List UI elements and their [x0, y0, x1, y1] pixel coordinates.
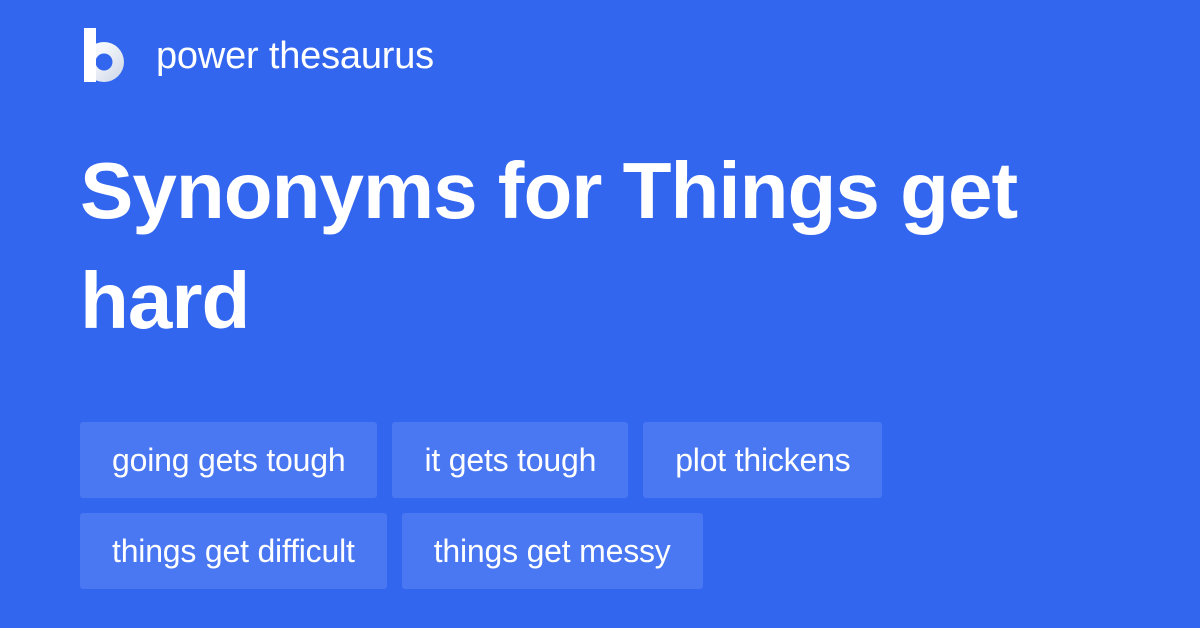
synonym-chip-list: going gets tough it gets tough plot thic… [80, 422, 1120, 589]
synonym-chip[interactable]: things get difficult [80, 513, 387, 589]
page-title: Synonyms for Things get hard [80, 136, 1100, 356]
synonym-chip[interactable]: it gets tough [392, 422, 628, 498]
synonym-chip[interactable]: going gets tough [80, 422, 377, 498]
synonym-chip[interactable]: things get messy [402, 513, 703, 589]
brand-name: power thesaurus [156, 37, 434, 75]
brand-logo[interactable]: power thesaurus [80, 26, 434, 86]
share-card: power thesaurus Synonyms for Things get … [0, 0, 1200, 628]
synonym-chip[interactable]: plot thickens [643, 422, 882, 498]
power-thesaurus-b-logo-icon [80, 28, 128, 84]
